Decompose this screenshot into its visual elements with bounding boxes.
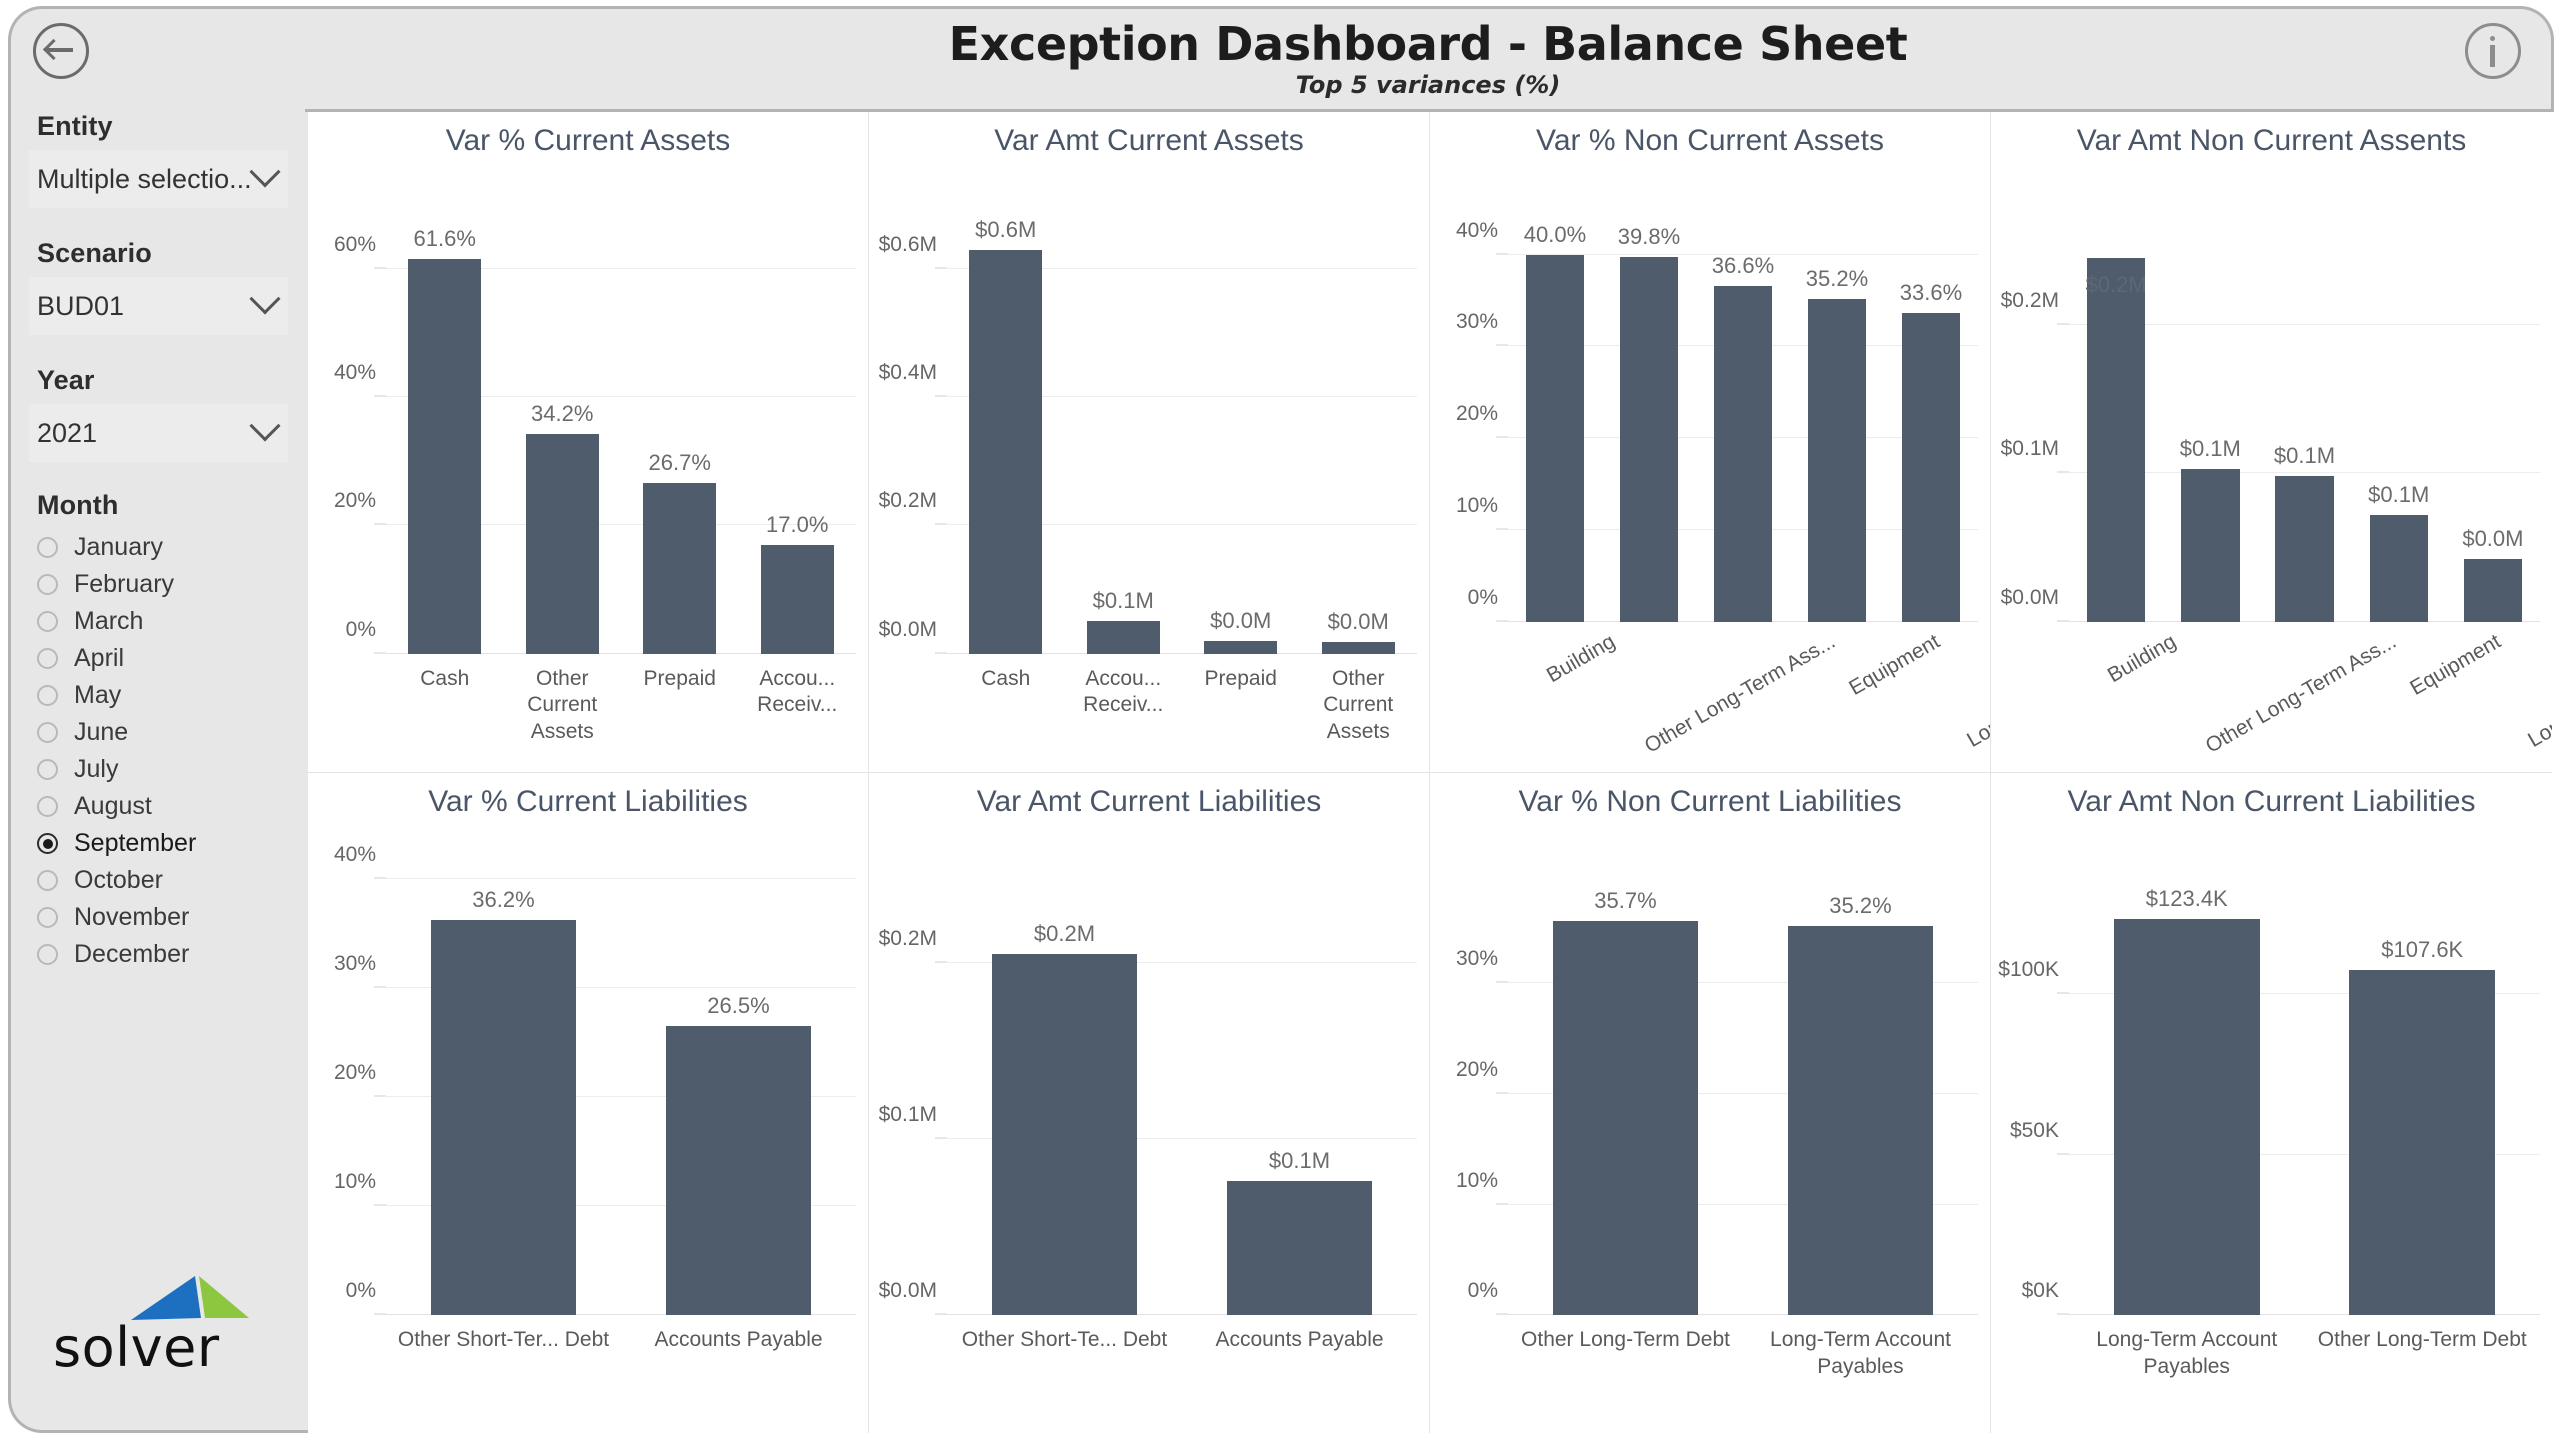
x-tick-label: Prepaid: [621, 666, 739, 747]
bar[interactable]: $0.2M: [992, 954, 1138, 1315]
dashboard-root: Entity Multiple selectio... Scenario BUD…: [0, 0, 2560, 1439]
month-option-label: May: [74, 681, 121, 710]
x-tick-label: Accou... Receiv...: [1065, 666, 1183, 747]
y-tick-label: $0.1M: [2001, 437, 2059, 461]
radio-icon[interactable]: [37, 907, 58, 928]
x-axis-labels: CashAccou... Receiv...PrepaidOther Curre…: [947, 654, 1417, 747]
y-tick-mark: [935, 396, 947, 397]
month-option-june[interactable]: June: [11, 714, 308, 751]
bar-slot: $0.1M: [2257, 218, 2351, 622]
bar-slot: 34.2%: [504, 218, 622, 654]
y-tick-label: $0.2M: [879, 927, 937, 951]
bar[interactable]: 36.2%: [431, 920, 577, 1315]
bar-slot: $0.2M: [947, 879, 1182, 1316]
bar-value-label: 26.5%: [707, 993, 769, 1019]
y-tick-mark: [374, 652, 386, 653]
month-option-label: December: [74, 940, 189, 969]
bar-value-label: $0.1M: [2274, 443, 2335, 469]
page-subtitle: Top 5 variances (%): [305, 71, 2551, 99]
year-slicer: Year 2021: [11, 365, 308, 462]
radio-icon[interactable]: [37, 574, 58, 595]
chevron-down-icon: [249, 283, 280, 314]
x-tick-label: Equipment: [2404, 628, 2508, 703]
radio-icon[interactable]: [37, 685, 58, 706]
chart-panel-var-pct-current-liabilities[interactable]: Var % Current Liabilities0%10%20%30%40%3…: [308, 773, 869, 1434]
month-option-label: September: [74, 829, 196, 858]
y-tick-label: 30%: [1456, 310, 1498, 334]
bar-value-label: 17.0%: [766, 512, 828, 538]
y-tick-mark: [1496, 1314, 1508, 1315]
bar-slot: 36.2%: [386, 879, 621, 1316]
chart-title: Var Amt Non Current Assents: [1991, 124, 2552, 158]
chart-axes: 0%10%20%30%35.7%35.2%Other Long-Term Deb…: [1508, 879, 1978, 1316]
month-option-march[interactable]: March: [11, 603, 308, 640]
bar[interactable]: $107.6K: [2349, 970, 2495, 1315]
x-axis-labels: Other Short-Te... DebtAccounts Payable: [947, 1315, 1417, 1354]
bar-slot: 36.6%: [1696, 218, 1790, 622]
chart-title: Var Amt Non Current Liabilities: [1991, 785, 2552, 819]
solver-logo: solver: [53, 1272, 253, 1382]
x-tick-label: Other Current Assets: [504, 666, 622, 747]
y-tick-mark: [935, 1138, 947, 1139]
bar-slot: $0.1M: [1182, 879, 1417, 1316]
y-tick-label: 40%: [334, 843, 376, 867]
bar[interactable]: $0.1M: [2181, 469, 2239, 622]
chart-plot-area: $0.0M$0.1M$0.2M$0.2M$0.1MOther Short-Te.…: [869, 831, 1429, 1434]
x-tick-label: Other Long-Term Debt: [1508, 1327, 1743, 1381]
y-tick-mark: [935, 1314, 947, 1315]
bar-slot: $0.0M: [1182, 218, 1300, 654]
y-tick-mark: [935, 524, 947, 525]
y-tick-mark: [2057, 993, 2069, 994]
chart-panel-var-amt-current-assets[interactable]: Var Amt Current Assets$0.0M$0.2M$0.4M$0.…: [869, 112, 1430, 773]
bar-value-label: $0.1M: [2180, 436, 2241, 462]
bar-series: $123.4K$107.6K: [2069, 879, 2540, 1316]
y-tick-mark: [374, 524, 386, 525]
chart-plot-area: $0.0M$0.1M$0.2M$0.2M$0.1M$0.1M$0.1M$0.0M…: [1991, 170, 2552, 772]
y-tick-label: $0.2M: [2001, 289, 2059, 313]
month-option-september[interactable]: September: [11, 825, 308, 862]
bar[interactable]: 35.7%: [1553, 921, 1699, 1316]
chart-title: Var % Current Assets: [308, 124, 868, 158]
year-label: Year: [11, 365, 308, 396]
y-tick-label: $0.1M: [879, 1103, 937, 1127]
y-tick-label: $0.4M: [879, 361, 937, 385]
entity-label: Entity: [11, 111, 308, 142]
bar-value-label: $107.6K: [2381, 937, 2463, 963]
x-tick-label: Accounts Payable: [1182, 1327, 1417, 1354]
bar-slot: 35.7%: [1508, 879, 1743, 1316]
bar[interactable]: 33.6%: [1902, 313, 1960, 621]
y-tick-mark: [935, 961, 947, 962]
radio-icon[interactable]: [37, 944, 58, 965]
chart-panel-var-amt-current-liabilities[interactable]: Var Amt Current Liabilities$0.0M$0.1M$0.…: [869, 773, 1430, 1434]
x-tick-label: Building: [1541, 628, 1623, 691]
chart-title: Var Amt Current Assets: [869, 124, 1429, 158]
y-tick-mark: [2057, 1153, 2069, 1154]
month-option-october[interactable]: October: [11, 862, 308, 899]
y-tick-mark: [1496, 1203, 1508, 1204]
bar-value-label: 35.2%: [1806, 266, 1868, 292]
bar-slot: 33.6%: [1884, 218, 1978, 622]
bar[interactable]: $0.0M: [2464, 559, 2522, 621]
bar-series: $0.2M$0.1M: [947, 879, 1417, 1316]
radio-icon[interactable]: [37, 722, 58, 743]
x-axis-labels: Long-Term Account PayablesOther Long-Ter…: [2069, 1315, 2540, 1381]
y-tick-label: 20%: [334, 489, 376, 513]
bar-value-label: 36.6%: [1712, 253, 1774, 279]
y-tick-label: $0.6M: [879, 233, 937, 257]
bar-series: 61.6%34.2%26.7%17.0%: [386, 218, 856, 654]
chart-grid: Var % Current Assets0%20%40%60%61.6%34.2…: [308, 112, 2552, 1433]
x-tick-label: Other Current Assets: [1300, 666, 1418, 747]
month-option-label: March: [74, 607, 143, 636]
x-tick-label: Equipment: [1843, 628, 1947, 703]
bar-series: $0.6M$0.1M$0.0M$0.0M: [947, 218, 1417, 654]
back-arrow-icon[interactable]: [33, 23, 89, 79]
y-tick-label: 10%: [334, 1170, 376, 1194]
bar-slot: $107.6K: [2305, 879, 2541, 1316]
info-icon[interactable]: [2465, 23, 2521, 79]
bar[interactable]: 17.0%: [761, 545, 834, 654]
y-tick-mark: [1496, 982, 1508, 983]
bar-series: 40.0%39.8%36.6%35.2%33.6%: [1508, 218, 1978, 622]
entity-dropdown[interactable]: Multiple selectio...: [29, 150, 288, 208]
month-option-label: August: [74, 792, 152, 821]
month-option-january[interactable]: January: [11, 529, 308, 566]
y-tick-mark: [2057, 323, 2069, 324]
x-tick-label: Long-Term Account ...: [2522, 628, 2552, 755]
y-tick-label: 30%: [1456, 947, 1498, 971]
month-option-label: October: [74, 866, 163, 895]
y-tick-label: 0%: [1468, 1279, 1498, 1303]
y-tick-mark: [2057, 1314, 2069, 1315]
back-arrow-head: [43, 39, 64, 60]
radio-icon[interactable]: [37, 537, 58, 558]
bar-value-label: $0.0M: [1210, 608, 1271, 634]
month-option-august[interactable]: August: [11, 788, 308, 825]
bar[interactable]: 35.2%: [1788, 926, 1934, 1315]
bar-value-label: $123.4K: [2146, 886, 2228, 912]
y-tick-label: 0%: [346, 618, 376, 642]
month-option-april[interactable]: April: [11, 640, 308, 677]
x-tick-label: Other Long-Term Ass...: [2199, 628, 2403, 761]
bar[interactable]: 26.5%: [666, 1026, 812, 1315]
month-option-label: January: [74, 533, 163, 562]
radio-icon[interactable]: [37, 870, 58, 891]
y-tick-mark: [374, 396, 386, 397]
x-axis-labels: Other Short-Ter... DebtAccounts Payable: [386, 1315, 856, 1354]
y-tick-label: $0.2M: [879, 489, 937, 513]
bar-value-label: 35.2%: [1829, 893, 1891, 919]
x-tick-label: Long-Term Account Payables: [1743, 1327, 1978, 1381]
month-option-november[interactable]: November: [11, 899, 308, 936]
x-axis-labels: Other Long-Term DebtLong-Term Account Pa…: [1508, 1315, 1978, 1381]
y-tick-label: 60%: [334, 233, 376, 257]
y-tick-label: $0.0M: [879, 618, 937, 642]
bar[interactable]: $0.1M: [2370, 515, 2428, 622]
chart-plot-area: 0%10%20%30%35.7%35.2%Other Long-Term Deb…: [1430, 831, 1990, 1434]
bar[interactable]: 26.7%: [643, 483, 716, 654]
y-tick-mark: [374, 1314, 386, 1315]
bar[interactable]: 36.6%: [1714, 286, 1772, 622]
solver-logo-text: solver: [53, 1316, 220, 1379]
x-tick-label: Other Long-Term Debt: [2305, 1327, 2541, 1381]
chart-panel-var-pct-current-assets[interactable]: Var % Current Assets0%20%40%60%61.6%34.2…: [308, 112, 869, 773]
bar-value-label: 39.8%: [1618, 224, 1680, 250]
month-label: Month: [11, 490, 308, 521]
y-tick-label: 20%: [1456, 1058, 1498, 1082]
chart-panel-var-pct-non-current-liabilities[interactable]: Var % Non Current Liabilities0%10%20%30%…: [1430, 773, 1991, 1434]
bar-slot: $0.1M: [1065, 218, 1183, 654]
bar-series: 36.2%26.5%: [386, 879, 856, 1316]
entity-value: Multiple selectio...: [37, 164, 254, 195]
info-icon-stem: [2490, 45, 2495, 67]
bar-value-label: 35.7%: [1594, 888, 1656, 914]
radio-icon[interactable]: [37, 759, 58, 780]
scenario-dropdown[interactable]: BUD01: [29, 277, 288, 335]
y-tick-label: $0K: [2022, 1279, 2059, 1303]
dashboard-header: Exception Dashboard - Balance Sheet Top …: [305, 6, 2554, 112]
y-tick-mark: [935, 652, 947, 653]
chart-plot-area: $0.0M$0.2M$0.4M$0.6M$0.6M$0.1M$0.0M$0.0M…: [869, 170, 1429, 772]
year-value: 2021: [37, 418, 254, 449]
y-tick-mark: [1496, 253, 1508, 254]
y-tick-label: 0%: [1468, 586, 1498, 610]
x-tick-label: Prepaid: [1182, 666, 1300, 747]
chart-axes: $0.0M$0.1M$0.2M$0.2M$0.1M$0.1M$0.1M$0.0M…: [2069, 218, 2540, 622]
y-tick-mark: [374, 986, 386, 987]
x-tick-label: Cash: [947, 666, 1065, 747]
x-axis-labels: CashOther Current AssetsPrepaidAccou... …: [386, 654, 856, 747]
year-dropdown[interactable]: 2021: [29, 404, 288, 462]
y-tick-label: 10%: [1456, 494, 1498, 518]
scenario-label: Scenario: [11, 238, 308, 269]
chart-title: Var % Non Current Liabilities: [1430, 785, 1990, 819]
bar-value-label: 61.6%: [414, 226, 476, 252]
month-option-label: July: [74, 755, 118, 784]
bar[interactable]: 34.2%: [526, 434, 599, 653]
y-tick-mark: [1496, 620, 1508, 621]
month-option-july[interactable]: July: [11, 751, 308, 788]
bar[interactable]: $0.0M: [1204, 641, 1277, 654]
bar[interactable]: 61.6%: [408, 259, 481, 654]
x-tick-label: Other Long-Term Ass...: [1638, 628, 1842, 761]
bar[interactable]: $0.6M: [969, 250, 1042, 653]
month-option-february[interactable]: February: [11, 566, 308, 603]
y-tick-mark: [374, 877, 386, 878]
chart-axes: $0.0M$0.1M$0.2M$0.2M$0.1MOther Short-Te.…: [947, 879, 1417, 1316]
bar-value-label: 34.2%: [531, 401, 593, 427]
bar-slot: 26.7%: [621, 218, 739, 654]
filter-sidebar: Entity Multiple selectio... Scenario BUD…: [8, 6, 308, 1433]
scenario-value: BUD01: [37, 291, 254, 322]
bar-slot: 40.0%: [1508, 218, 1602, 622]
chart-panel-var-pct-non-current-assets[interactable]: Var % Non Current Assets0%10%20%30%40%40…: [1430, 112, 1991, 773]
bar-value-label: 26.7%: [649, 450, 711, 476]
radio-icon[interactable]: [37, 611, 58, 632]
month-option-may[interactable]: May: [11, 677, 308, 714]
bar-value-label: $0.2M: [2086, 272, 2147, 298]
y-tick-label: 40%: [1456, 219, 1498, 243]
chart-panel-var-amt-non-current-liabilities[interactable]: Var Amt Non Current Liabilities$0K$50K$1…: [1991, 773, 2552, 1434]
bar[interactable]: $0.1M: [1087, 621, 1160, 653]
y-tick-mark: [374, 1204, 386, 1205]
chart-axes: $0K$50K$100K$123.4K$107.6KLong-Term Acco…: [2069, 879, 2540, 1316]
radio-selected-icon[interactable]: [37, 833, 58, 854]
x-tick-label: Accounts Payable: [621, 1327, 856, 1354]
y-tick-mark: [374, 268, 386, 269]
month-option-label: June: [74, 718, 128, 747]
bar-value-label: 36.2%: [472, 887, 534, 913]
bar-value-label: 33.6%: [1900, 280, 1962, 306]
y-tick-label: 0%: [346, 1279, 376, 1303]
y-tick-mark: [2057, 472, 2069, 473]
bar-slot: $0.2M: [2069, 218, 2163, 622]
month-option-label: February: [74, 570, 174, 599]
bar-value-label: $0.2M: [1034, 921, 1095, 947]
bar[interactable]: $0.2M: [2087, 258, 2145, 621]
bar-value-label: 40.0%: [1524, 222, 1586, 248]
y-tick-label: $100K: [1998, 958, 2059, 982]
bar-value-label: $0.1M: [1269, 1148, 1330, 1174]
bar-slot: $0.1M: [2163, 218, 2257, 622]
radio-icon[interactable]: [37, 648, 58, 669]
x-tick-label: Building: [2102, 628, 2184, 691]
x-tick-label: Long-Term Account Payables: [2069, 1327, 2305, 1381]
bar-slot: 17.0%: [739, 218, 857, 654]
x-tick-label: Other Short-Ter... Debt: [386, 1327, 621, 1354]
bar[interactable]: 40.0%: [1526, 255, 1584, 622]
bar-slot: $0.1M: [2352, 218, 2446, 622]
scenario-slicer: Scenario BUD01: [11, 238, 308, 335]
y-tick-label: 40%: [334, 361, 376, 385]
month-option-label: April: [74, 644, 124, 673]
y-tick-mark: [1496, 345, 1508, 346]
chart-axes: 0%10%20%30%40%36.2%26.5%Other Short-Ter.…: [386, 879, 856, 1316]
x-axis-labels: BuildingOther Long-Term Ass...EquipmentL…: [1508, 622, 1978, 655]
chart-axes: 0%10%20%30%40%40.0%39.8%36.6%35.2%33.6%B…: [1508, 218, 1978, 622]
chart-axes: $0.0M$0.2M$0.4M$0.6M$0.6M$0.1M$0.0M$0.0M…: [947, 218, 1417, 654]
bar[interactable]: $0.1M: [1227, 1181, 1373, 1315]
chart-plot-area: 0%10%20%30%40%36.2%26.5%Other Short-Ter.…: [308, 831, 868, 1434]
info-icon-dot: [2490, 36, 2495, 41]
x-axis-labels: BuildingOther Long-Term Ass...EquipmentL…: [2069, 622, 2540, 655]
chevron-down-icon: [249, 410, 280, 441]
y-tick-label: 10%: [1456, 1169, 1498, 1193]
bar[interactable]: $123.4K: [2114, 919, 2260, 1315]
chart-title: Var % Non Current Assets: [1430, 124, 1990, 158]
month-slicer: Month JanuaryFebruaryMarchAprilMayJuneJu…: [11, 490, 308, 973]
chart-panel-var-amt-non-current-assets[interactable]: Var Amt Non Current Assents$0.0M$0.1M$0.…: [1991, 112, 2552, 773]
y-tick-mark: [935, 268, 947, 269]
bar[interactable]: 39.8%: [1620, 257, 1678, 622]
y-tick-label: $50K: [2010, 1119, 2059, 1143]
bar-value-label: $0.0M: [1328, 609, 1389, 635]
bar-series: $0.2M$0.1M$0.1M$0.1M$0.0M: [2069, 218, 2540, 622]
bar-slot: 39.8%: [1602, 218, 1696, 622]
bar-value-label: $0.6M: [975, 217, 1036, 243]
bar-slot: 35.2%: [1743, 879, 1978, 1316]
bar-series: 35.7%35.2%: [1508, 879, 1978, 1316]
x-tick-label: Long-Term Account ...: [1961, 628, 1991, 755]
chart-plot-area: $0K$50K$100K$123.4K$107.6KLong-Term Acco…: [1991, 831, 2552, 1434]
bar[interactable]: $0.0M: [1322, 642, 1395, 654]
bar-slot: $123.4K: [2069, 879, 2305, 1316]
y-tick-label: $0.0M: [879, 1279, 937, 1303]
x-tick-label: Other Short-Te... Debt: [947, 1327, 1182, 1354]
bar-value-label: $0.0M: [2462, 526, 2523, 552]
bar-value-label: $0.1M: [1093, 588, 1154, 614]
y-tick-mark: [1496, 528, 1508, 529]
bar-slot: $0.0M: [2446, 218, 2540, 622]
radio-icon[interactable]: [37, 796, 58, 817]
bar-slot: $0.6M: [947, 218, 1065, 654]
chevron-down-icon: [249, 156, 280, 187]
x-tick-label: Accou... Receiv...: [739, 666, 857, 747]
bar[interactable]: $0.1M: [2275, 476, 2333, 621]
y-tick-mark: [374, 1095, 386, 1096]
entity-slicer: Entity Multiple selectio...: [11, 111, 308, 208]
chart-plot-area: 0%20%40%60%61.6%34.2%26.7%17.0%CashOther…: [308, 170, 868, 772]
y-tick-label: 20%: [334, 1061, 376, 1085]
x-tick-label: Cash: [386, 666, 504, 747]
chart-plot-area: 0%10%20%30%40%40.0%39.8%36.6%35.2%33.6%B…: [1430, 170, 1990, 772]
y-tick-mark: [1496, 437, 1508, 438]
month-option-december[interactable]: December: [11, 936, 308, 973]
y-tick-label: 20%: [1456, 402, 1498, 426]
bar-slot: 35.2%: [1790, 218, 1884, 622]
month-radio-group: JanuaryFebruaryMarchAprilMayJuneJulyAugu…: [11, 529, 308, 973]
month-option-label: November: [74, 903, 189, 932]
bar[interactable]: 35.2%: [1808, 299, 1866, 622]
y-tick-mark: [1496, 1093, 1508, 1094]
chart-title: Var % Current Liabilities: [308, 785, 868, 819]
bar-slot: $0.0M: [1300, 218, 1418, 654]
bar-value-label: $0.1M: [2368, 482, 2429, 508]
page-title: Exception Dashboard - Balance Sheet: [305, 17, 2551, 71]
y-tick-label: $0.0M: [2001, 586, 2059, 610]
bar-slot: 61.6%: [386, 218, 504, 654]
bar-slot: 26.5%: [621, 879, 856, 1316]
chart-title: Var Amt Current Liabilities: [869, 785, 1429, 819]
y-tick-mark: [2057, 620, 2069, 621]
y-tick-label: 30%: [334, 952, 376, 976]
chart-axes: 0%20%40%60%61.6%34.2%26.7%17.0%CashOther…: [386, 218, 856, 654]
